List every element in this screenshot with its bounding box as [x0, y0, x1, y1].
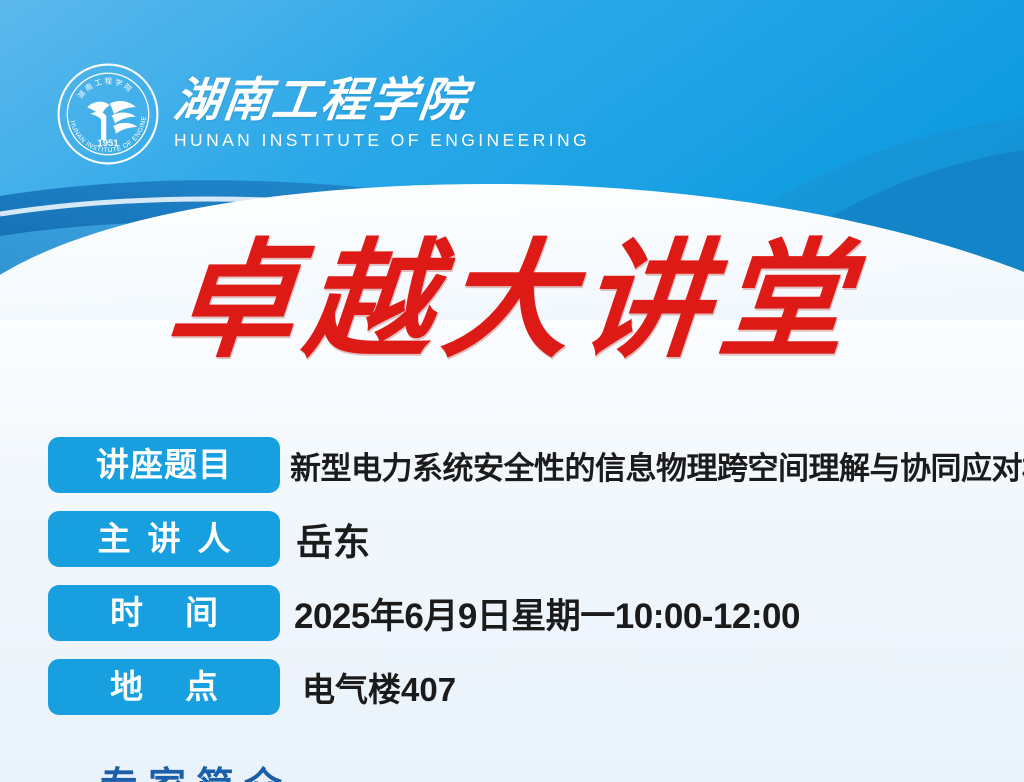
value-time: 2025年6月9日星期一10:00-12:00	[280, 588, 1008, 639]
university-name-en: HUNAN INSTITUTE OF ENGINEERING	[174, 130, 590, 151]
label-place: 地点	[48, 659, 280, 715]
value-topic: 新型电力系统安全性的信息物理跨空间理解与协同应对机制	[280, 443, 1024, 488]
value-speaker: 岳东	[280, 512, 1008, 566]
university-logo: 1951 HUNAN INSTITUTE OF ENGINEERING 湖南工程…	[56, 62, 590, 166]
section-heading-expert-bio: 专家简介	[100, 755, 292, 782]
label-time: 时间	[48, 585, 280, 641]
value-place: 电气楼407	[280, 663, 1008, 711]
poster-main-title: 卓越大讲堂	[0, 238, 1024, 366]
info-row-time: 时间 2025年6月9日星期一10:00-12:00	[48, 585, 1008, 641]
university-name-cn: 湖南工程学院	[171, 77, 471, 126]
info-row-speaker: 主讲人 岳东	[48, 511, 1008, 567]
lecture-info-list: 讲座题目 新型电力系统安全性的信息物理跨空间理解与协同应对机制 主讲人 岳东 时…	[48, 437, 1008, 733]
label-speaker: 主讲人	[48, 511, 280, 567]
university-seal-icon: 1951 HUNAN INSTITUTE OF ENGINEERING 湖南工程…	[56, 62, 160, 166]
info-row-topic: 讲座题目 新型电力系统安全性的信息物理跨空间理解与协同应对机制	[48, 437, 1008, 493]
info-row-place: 地点 电气楼407	[48, 659, 1008, 715]
poster-canvas: 1951 HUNAN INSTITUTE OF ENGINEERING 湖南工程…	[0, 0, 1024, 782]
label-topic: 讲座题目	[48, 437, 280, 493]
